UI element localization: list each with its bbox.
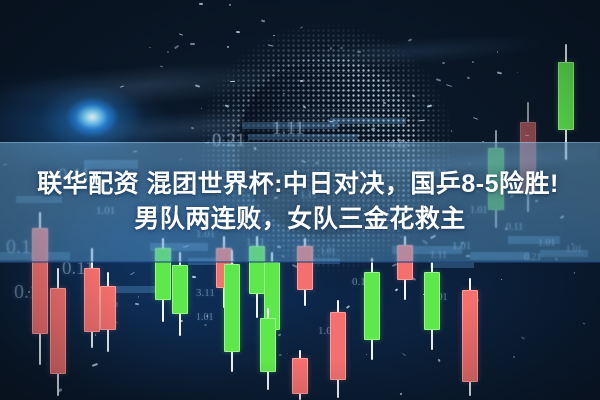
headline-line-2: 男队两连败，女队三金花救主 xyxy=(134,205,466,234)
headline-block: 联华配资 混团世界杯:中日对决，国乒8-5险胜! 男队两连败，女队三金花救主 xyxy=(0,142,600,262)
headline-line-1: 联华配资 混团世界杯:中日对决，国乒8-5险胜! xyxy=(37,170,559,199)
poster-canvas: 0.110.210.111.011.010.110.111.011.113.11… xyxy=(0,0,600,400)
